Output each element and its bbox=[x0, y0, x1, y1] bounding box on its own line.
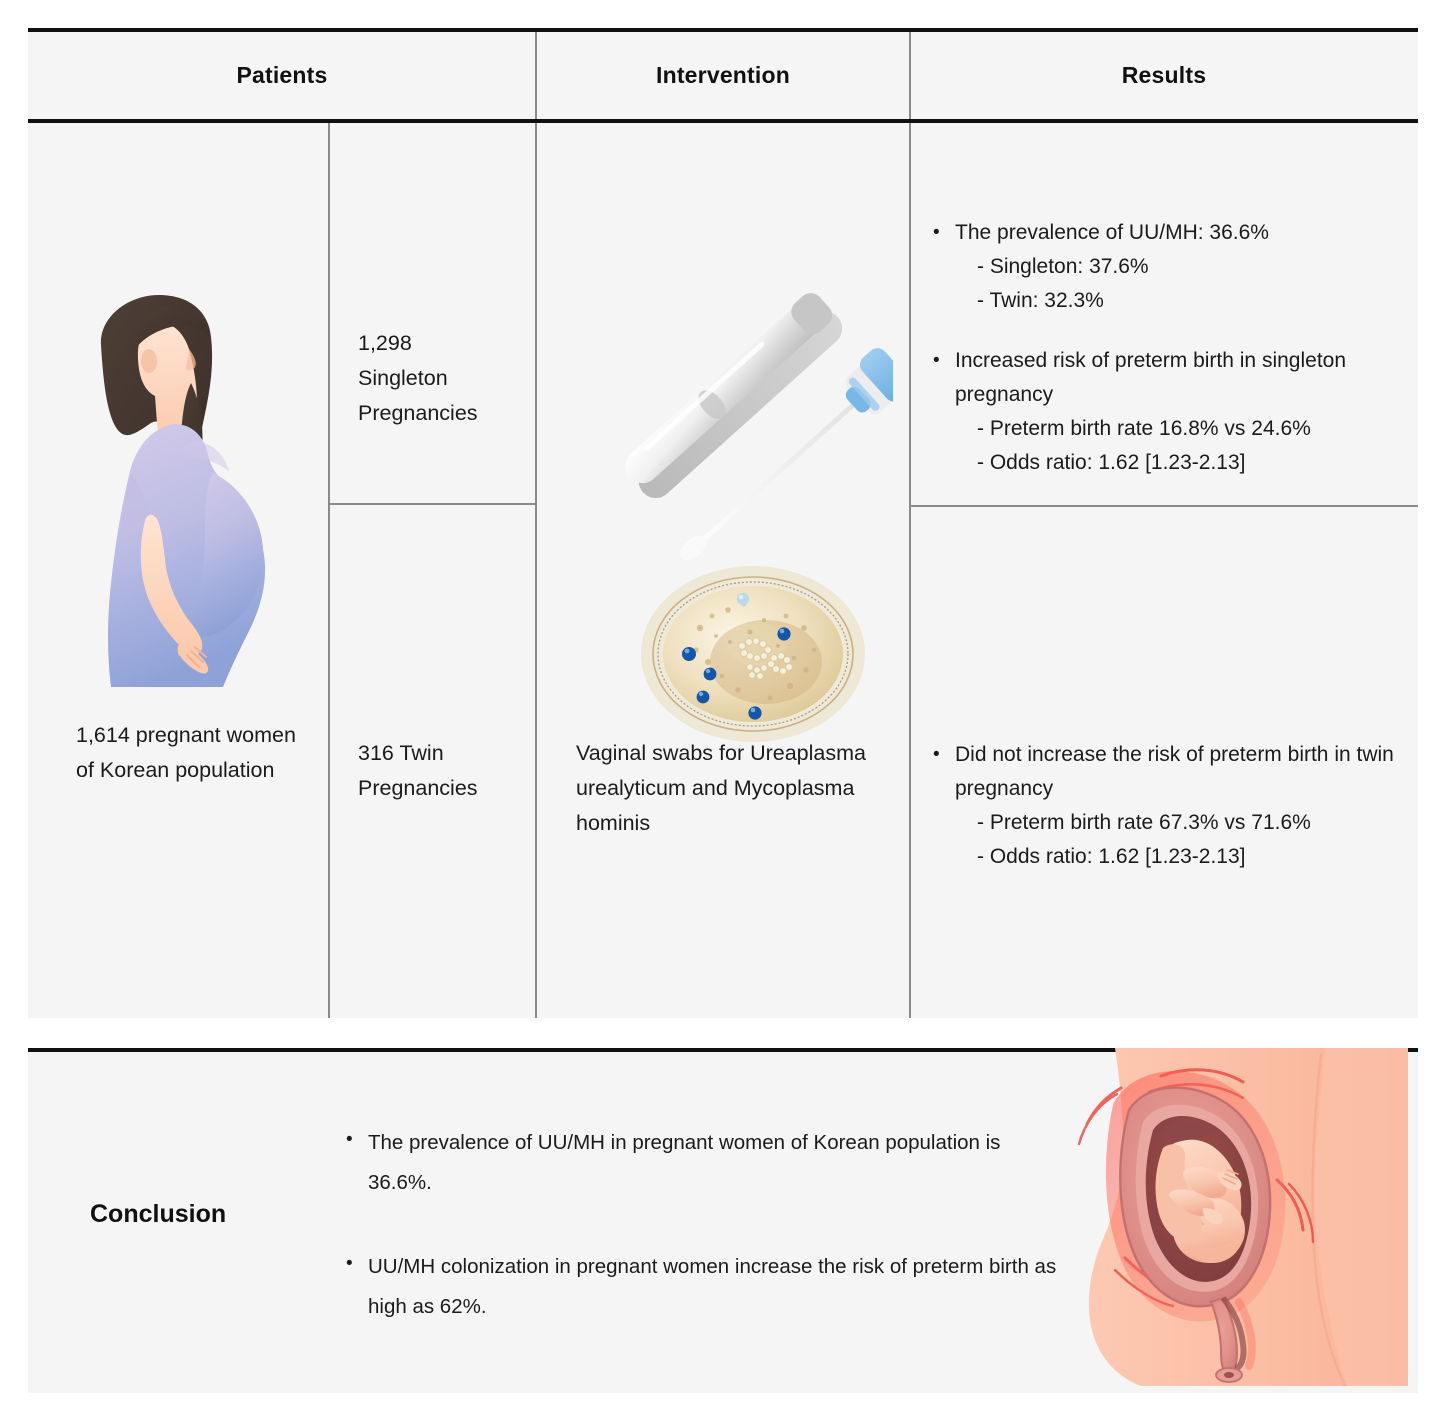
pregnant-woman-icon bbox=[73, 283, 313, 703]
patients-description: 1,614 pregnant women of Korean populatio… bbox=[76, 718, 316, 788]
body-divider-groups-intervention bbox=[535, 123, 537, 1018]
column-header-results: Results bbox=[910, 32, 1418, 119]
group-twin-count: 316 Twin Pregnancies bbox=[358, 736, 528, 806]
body-divider-patients-groups bbox=[328, 123, 330, 1018]
swab-tube-icon bbox=[573, 223, 893, 573]
bullet-text: The prevalence of UU/MH: 36.6% bbox=[955, 216, 1423, 250]
results-subitem: - Preterm birth rate 67.3% vs 71.6% bbox=[955, 806, 1423, 840]
conclusion-bullet: • The prevalence of UU/MH in pregnant wo… bbox=[346, 1123, 1066, 1203]
bullet-dot-icon: • bbox=[933, 344, 955, 378]
bullet-text: Did not increase the risk of preterm bir… bbox=[955, 738, 1423, 806]
conclusion-title: Conclusion bbox=[90, 1200, 226, 1229]
results-singleton-block: • The prevalence of UU/MH: 36.6% - Singl… bbox=[933, 216, 1423, 480]
summary-table: Patients Intervention Results bbox=[28, 28, 1418, 1018]
bullet-text: The prevalence of UU/MH in pregnant wome… bbox=[368, 1123, 1066, 1203]
results-bullet-group: • Did not increase the risk of preterm b… bbox=[933, 738, 1423, 874]
fetus-in-uterus-icon bbox=[1063, 1048, 1408, 1393]
conclusion-bullet-group: • UU/MH colonization in pregnant women i… bbox=[346, 1247, 1066, 1327]
petri-dish-icon bbox=[638, 558, 868, 748]
bullet-dot-icon: • bbox=[346, 1123, 368, 1157]
header-divider-2 bbox=[909, 32, 911, 119]
body-divider-intervention-results bbox=[909, 123, 911, 1018]
table-header-bottom-rule bbox=[28, 119, 1418, 123]
conclusion-bullet: • UU/MH colonization in pregnant women i… bbox=[346, 1247, 1066, 1327]
bullet-dot-icon: • bbox=[933, 738, 955, 772]
column-header-patients: Patients bbox=[28, 32, 536, 119]
table-header-row: Patients Intervention Results bbox=[28, 32, 1418, 119]
header-divider-1 bbox=[535, 32, 537, 119]
results-bullet: • Did not increase the risk of preterm b… bbox=[933, 738, 1423, 806]
group-singleton-count: 1,298 Singleton Pregnancies bbox=[358, 326, 528, 431]
results-bullet-group: • The prevalence of UU/MH: 36.6% - Singl… bbox=[933, 216, 1423, 318]
results-row-divider bbox=[909, 505, 1418, 507]
results-twin-block: • Did not increase the risk of preterm b… bbox=[933, 738, 1423, 874]
bullet-dot-icon: • bbox=[933, 216, 955, 250]
column-header-intervention: Intervention bbox=[536, 32, 910, 119]
results-bullet: • The prevalence of UU/MH: 36.6% bbox=[933, 216, 1423, 250]
results-bullet: • Increased risk of preterm birth in sin… bbox=[933, 344, 1423, 412]
bullet-text: Increased risk of preterm birth in singl… bbox=[955, 344, 1423, 412]
bullet-dot-icon: • bbox=[346, 1247, 368, 1281]
intervention-description: Vaginal swabs for Ureaplasma urealyticum… bbox=[576, 736, 906, 841]
results-subitem: - Odds ratio: 1.62 [1.23-2.13] bbox=[955, 840, 1423, 874]
conclusion-bullets: • The prevalence of UU/MH in pregnant wo… bbox=[346, 1123, 1066, 1371]
bullet-text: UU/MH colonization in pregnant women inc… bbox=[368, 1247, 1066, 1327]
groups-row-divider bbox=[328, 503, 536, 505]
results-subitem: - Preterm birth rate 16.8% vs 24.6% bbox=[955, 412, 1423, 446]
conclusion-panel: Conclusion • The prevalence of UU/MH in … bbox=[28, 1048, 1418, 1393]
conclusion-bullet-group: • The prevalence of UU/MH in pregnant wo… bbox=[346, 1123, 1066, 1203]
results-subitem: - Twin: 32.3% bbox=[955, 284, 1423, 318]
results-subitem: - Odds ratio: 1.62 [1.23-2.13] bbox=[955, 446, 1423, 480]
results-subitem: - Singleton: 37.6% bbox=[955, 250, 1423, 284]
results-bullet-group: • Increased risk of preterm birth in sin… bbox=[933, 344, 1423, 480]
infographic-page: Patients Intervention Results bbox=[0, 0, 1440, 1409]
